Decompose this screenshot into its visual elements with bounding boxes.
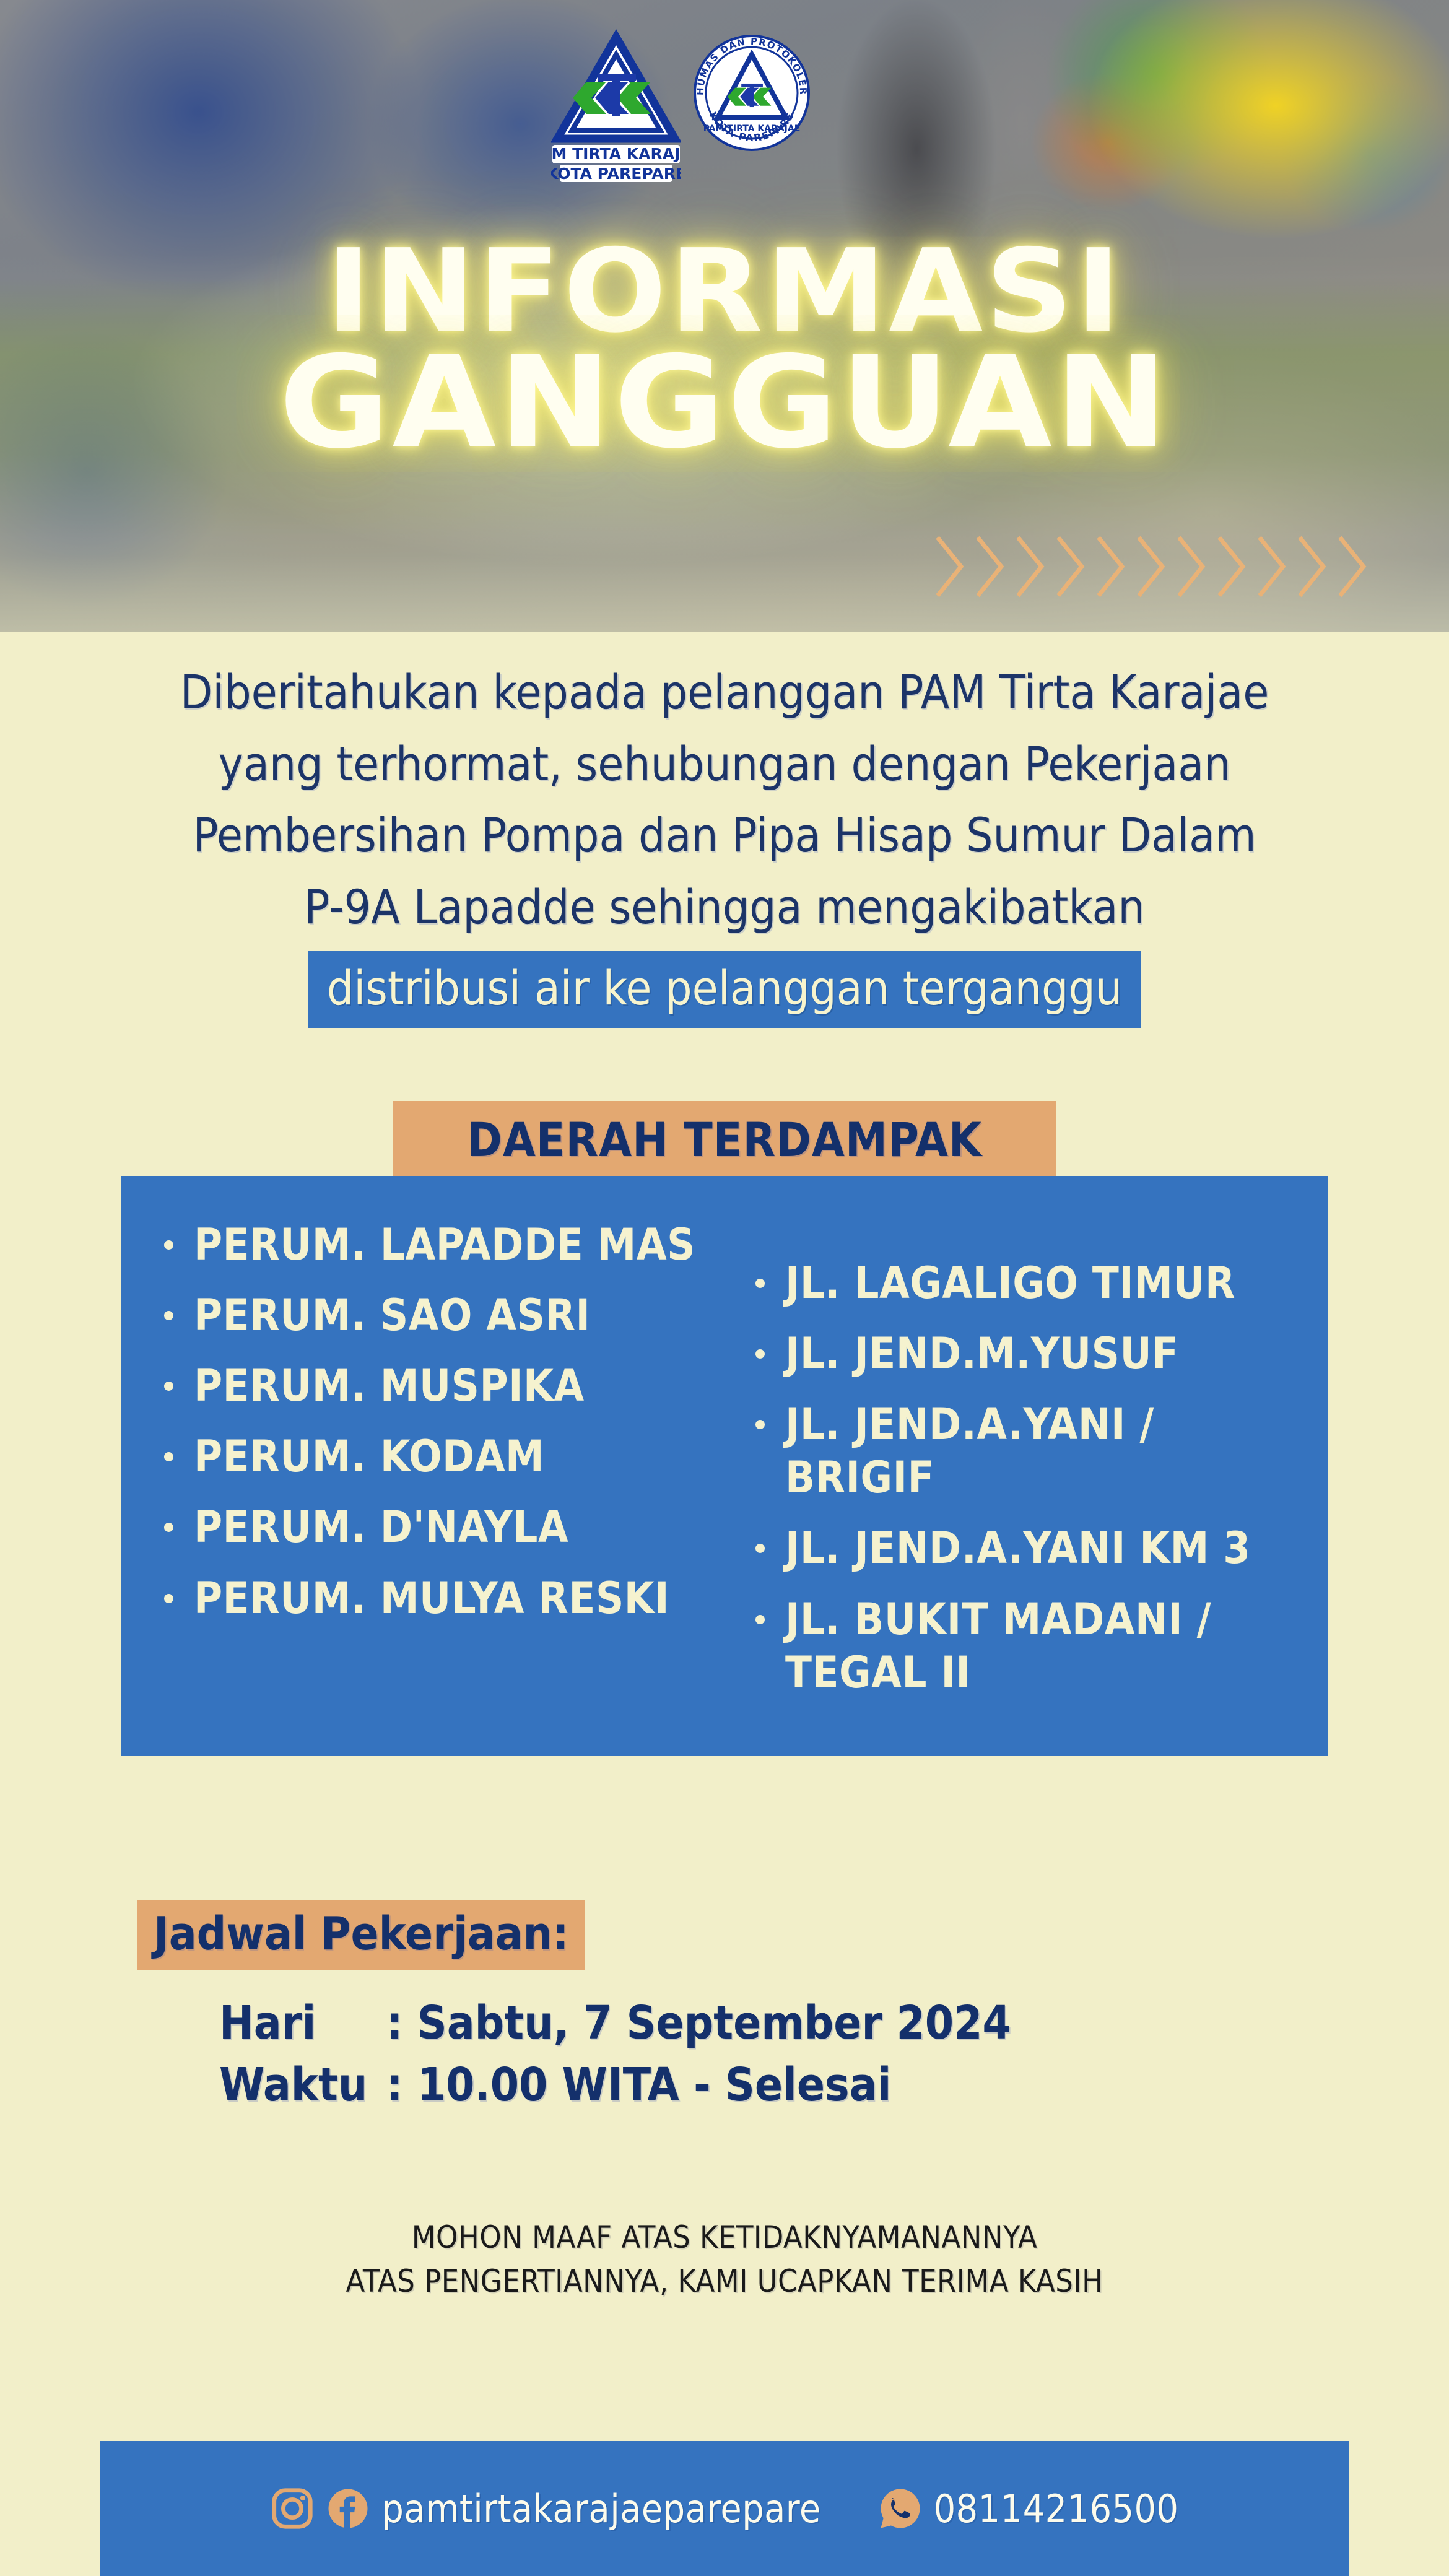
intro-paragraph: Diberitahukan kepada pelanggan PAM Tirta…: [0, 656, 1449, 942]
phone-group[interactable]: 08114216500: [878, 2486, 1179, 2531]
list-item: JL. JEND.M.YUSUF: [744, 1327, 1296, 1380]
list-item: PERUM. KODAM: [153, 1430, 705, 1483]
schedule-row-day: Hari : Sabtu, 7 September 2024: [219, 1993, 1449, 2055]
chevron-right-icon: [1134, 534, 1168, 599]
chevron-right-icon: [1214, 534, 1249, 599]
chevron-right-icon: [1013, 534, 1048, 599]
chevron-right-icon: [1053, 534, 1088, 599]
chevron-right-icon: [1295, 534, 1329, 599]
logo-left-line1: PAM TIRTA KARAJAE: [551, 145, 681, 163]
pam-tirta-karajae-logo: PAM TIRTA KARAJAE KOTA PAREPARE: [551, 26, 681, 187]
facebook-icon[interactable]: [326, 2486, 370, 2531]
logo-group: PAM TIRTA KARAJAE KOTA PAREPARE: [551, 26, 814, 187]
list-item: JL. JEND.A.YANI / BRIGIF: [744, 1398, 1296, 1504]
list-item: PERUM. LAPADDE MAS: [153, 1218, 705, 1271]
list-item: PERUM. D'NAYLA: [153, 1500, 705, 1554]
social-handle-text: pamtirtakarajaeparepare: [381, 2486, 820, 2531]
affected-areas-panel: PERUM. LAPADDE MAS PERUM. SAO ASRI PERUM…: [121, 1176, 1328, 1756]
highlight-container: distribusi air ke pelanggan terganggu: [0, 951, 1449, 1028]
affected-list-right: JL. LAGALIGO TIMUR JL. JEND.M.YUSUF JL. …: [744, 1256, 1296, 1699]
schedule-section: Jadwal Pekerjaan: Hari : Sabtu, 7 Septem…: [0, 1900, 1449, 2117]
phone-number-text: 08114216500: [934, 2486, 1179, 2531]
schedule-day-value: : Sabtu, 7 September 2024: [386, 1993, 1449, 2055]
schedule-rows: Hari : Sabtu, 7 September 2024 Waktu : 1…: [137, 1993, 1449, 2117]
list-item: JL. BUKIT MADANI / TEGAL II: [744, 1593, 1296, 1699]
schedule-row-time: Waktu : 10.00 WITA - Selesai: [219, 2055, 1449, 2117]
chevron-right-icon: [1255, 534, 1289, 599]
list-item: PERUM. MUSPIKA: [153, 1359, 705, 1412]
social-handle-group[interactable]: pamtirtakarajaeparepare: [270, 2486, 820, 2531]
list-item: JL. LAGALIGO TIMUR: [744, 1256, 1296, 1310]
apology-text: MOHON MAAF ATAS KETIDAKNYAMANANNYA ATAS …: [0, 2216, 1449, 2304]
intro-line-3: Pembersihan Pompa dan Pipa Hisap Sumur D…: [87, 799, 1362, 871]
intro-line-2: yang terhormat, sehubungan dengan Pekerj…: [87, 728, 1362, 800]
chevron-right-icon: [933, 534, 967, 599]
schedule-day-label: Hari: [219, 1993, 386, 2055]
list-item: PERUM. MULYA RESKI: [153, 1572, 705, 1625]
poster-root: PAM TIRTA KARAJAE KOTA PAREPARE: [0, 0, 1449, 2576]
intro-line-4: P-9A Lapadde sehingga mengakibatkan: [87, 871, 1362, 943]
impact-highlight-banner: distribusi air ke pelanggan terganggu: [308, 951, 1141, 1028]
list-item: PERUM. SAO ASRI: [153, 1289, 705, 1342]
affected-heading-container: DAERAH TERDAMPAK: [0, 1101, 1449, 1180]
affected-areas-left-column: PERUM. LAPADDE MAS PERUM. SAO ASRI PERUM…: [153, 1218, 705, 1717]
chevron-right-icon: [973, 534, 1007, 599]
instagram-icon[interactable]: [270, 2486, 315, 2531]
chevron-right-icon: [1174, 534, 1209, 599]
affected-areas-right-column: JL. LAGALIGO TIMUR JL. JEND.M.YUSUF JL. …: [711, 1218, 1296, 1717]
affected-areas-heading: DAERAH TERDAMPAK: [393, 1101, 1056, 1180]
chevron-decoration: [933, 534, 1370, 599]
footer-contact-bar: pamtirtakarajaeparepare 08114216500: [100, 2441, 1349, 2576]
list-item: JL. JEND.A.YANI KM 3: [744, 1521, 1296, 1575]
seal-center-text: PAM TIRTA KARAJAE: [703, 124, 801, 134]
hero-banner: PAM TIRTA KARAJAE KOTA PAREPARE: [0, 0, 1449, 632]
affected-list-left: PERUM. LAPADDE MAS PERUM. SAO ASRI PERUM…: [153, 1218, 705, 1625]
chevron-right-icon: [1335, 534, 1370, 599]
intro-line-1: Diberitahukan kepada pelanggan PAM Tirta…: [87, 656, 1362, 728]
schedule-time-label: Waktu: [219, 2055, 386, 2117]
apology-line-2: ATAS PENGERTIANNYA, KAMI UCAPKAN TERIMA …: [0, 2260, 1449, 2304]
whatsapp-icon[interactable]: [878, 2486, 923, 2531]
apology-line-1: MOHON MAAF ATAS KETIDAKNYAMANANNYA: [0, 2216, 1449, 2260]
schedule-time-value: : 10.00 WITA - Selesai: [386, 2055, 1449, 2117]
humas-dan-protokoler-seal: HUMAS DAN PROTOKOLER KOTA PAREPARE PAM T…: [690, 26, 814, 184]
schedule-heading: Jadwal Pekerjaan:: [137, 1900, 585, 1970]
logo-left-line2: KOTA PAREPARE: [551, 165, 681, 183]
chevron-right-icon: [1094, 534, 1128, 599]
